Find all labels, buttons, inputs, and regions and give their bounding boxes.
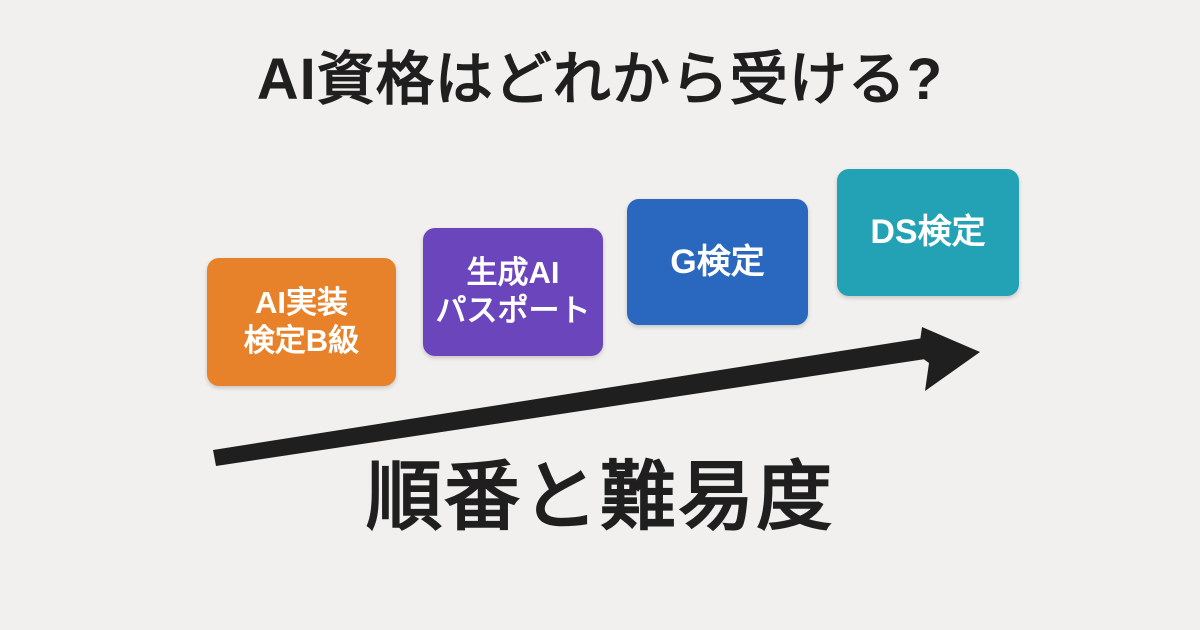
infographic-canvas: AI資格はどれから受ける? AI実装 検定B級 生成AI パスポート G検定 D… xyxy=(0,0,1200,630)
certification-card-label-line-1: G検定 xyxy=(670,242,764,283)
certification-card-label-line-2: 検定B級 xyxy=(244,322,359,360)
certification-card-label-line-1: AI実装 xyxy=(255,284,348,322)
certification-card-label-line-1: DS検定 xyxy=(870,212,985,253)
caption-text: 順番と難易度 xyxy=(0,455,1200,540)
certification-card-label-line-1: 生成AI xyxy=(467,254,560,292)
page-title: AI資格はどれから受ける? xyxy=(0,48,1200,112)
certification-card-label-line-2: パスポート xyxy=(436,292,591,330)
certification-card-seisei-ai-passport: 生成AI パスポート xyxy=(423,228,603,356)
certification-card-g-kentei: G検定 xyxy=(627,199,808,325)
certification-card-ds-kentei: DS検定 xyxy=(837,169,1019,296)
certification-card-ai-jisso-kentei-b: AI実装 検定B級 xyxy=(207,258,396,386)
